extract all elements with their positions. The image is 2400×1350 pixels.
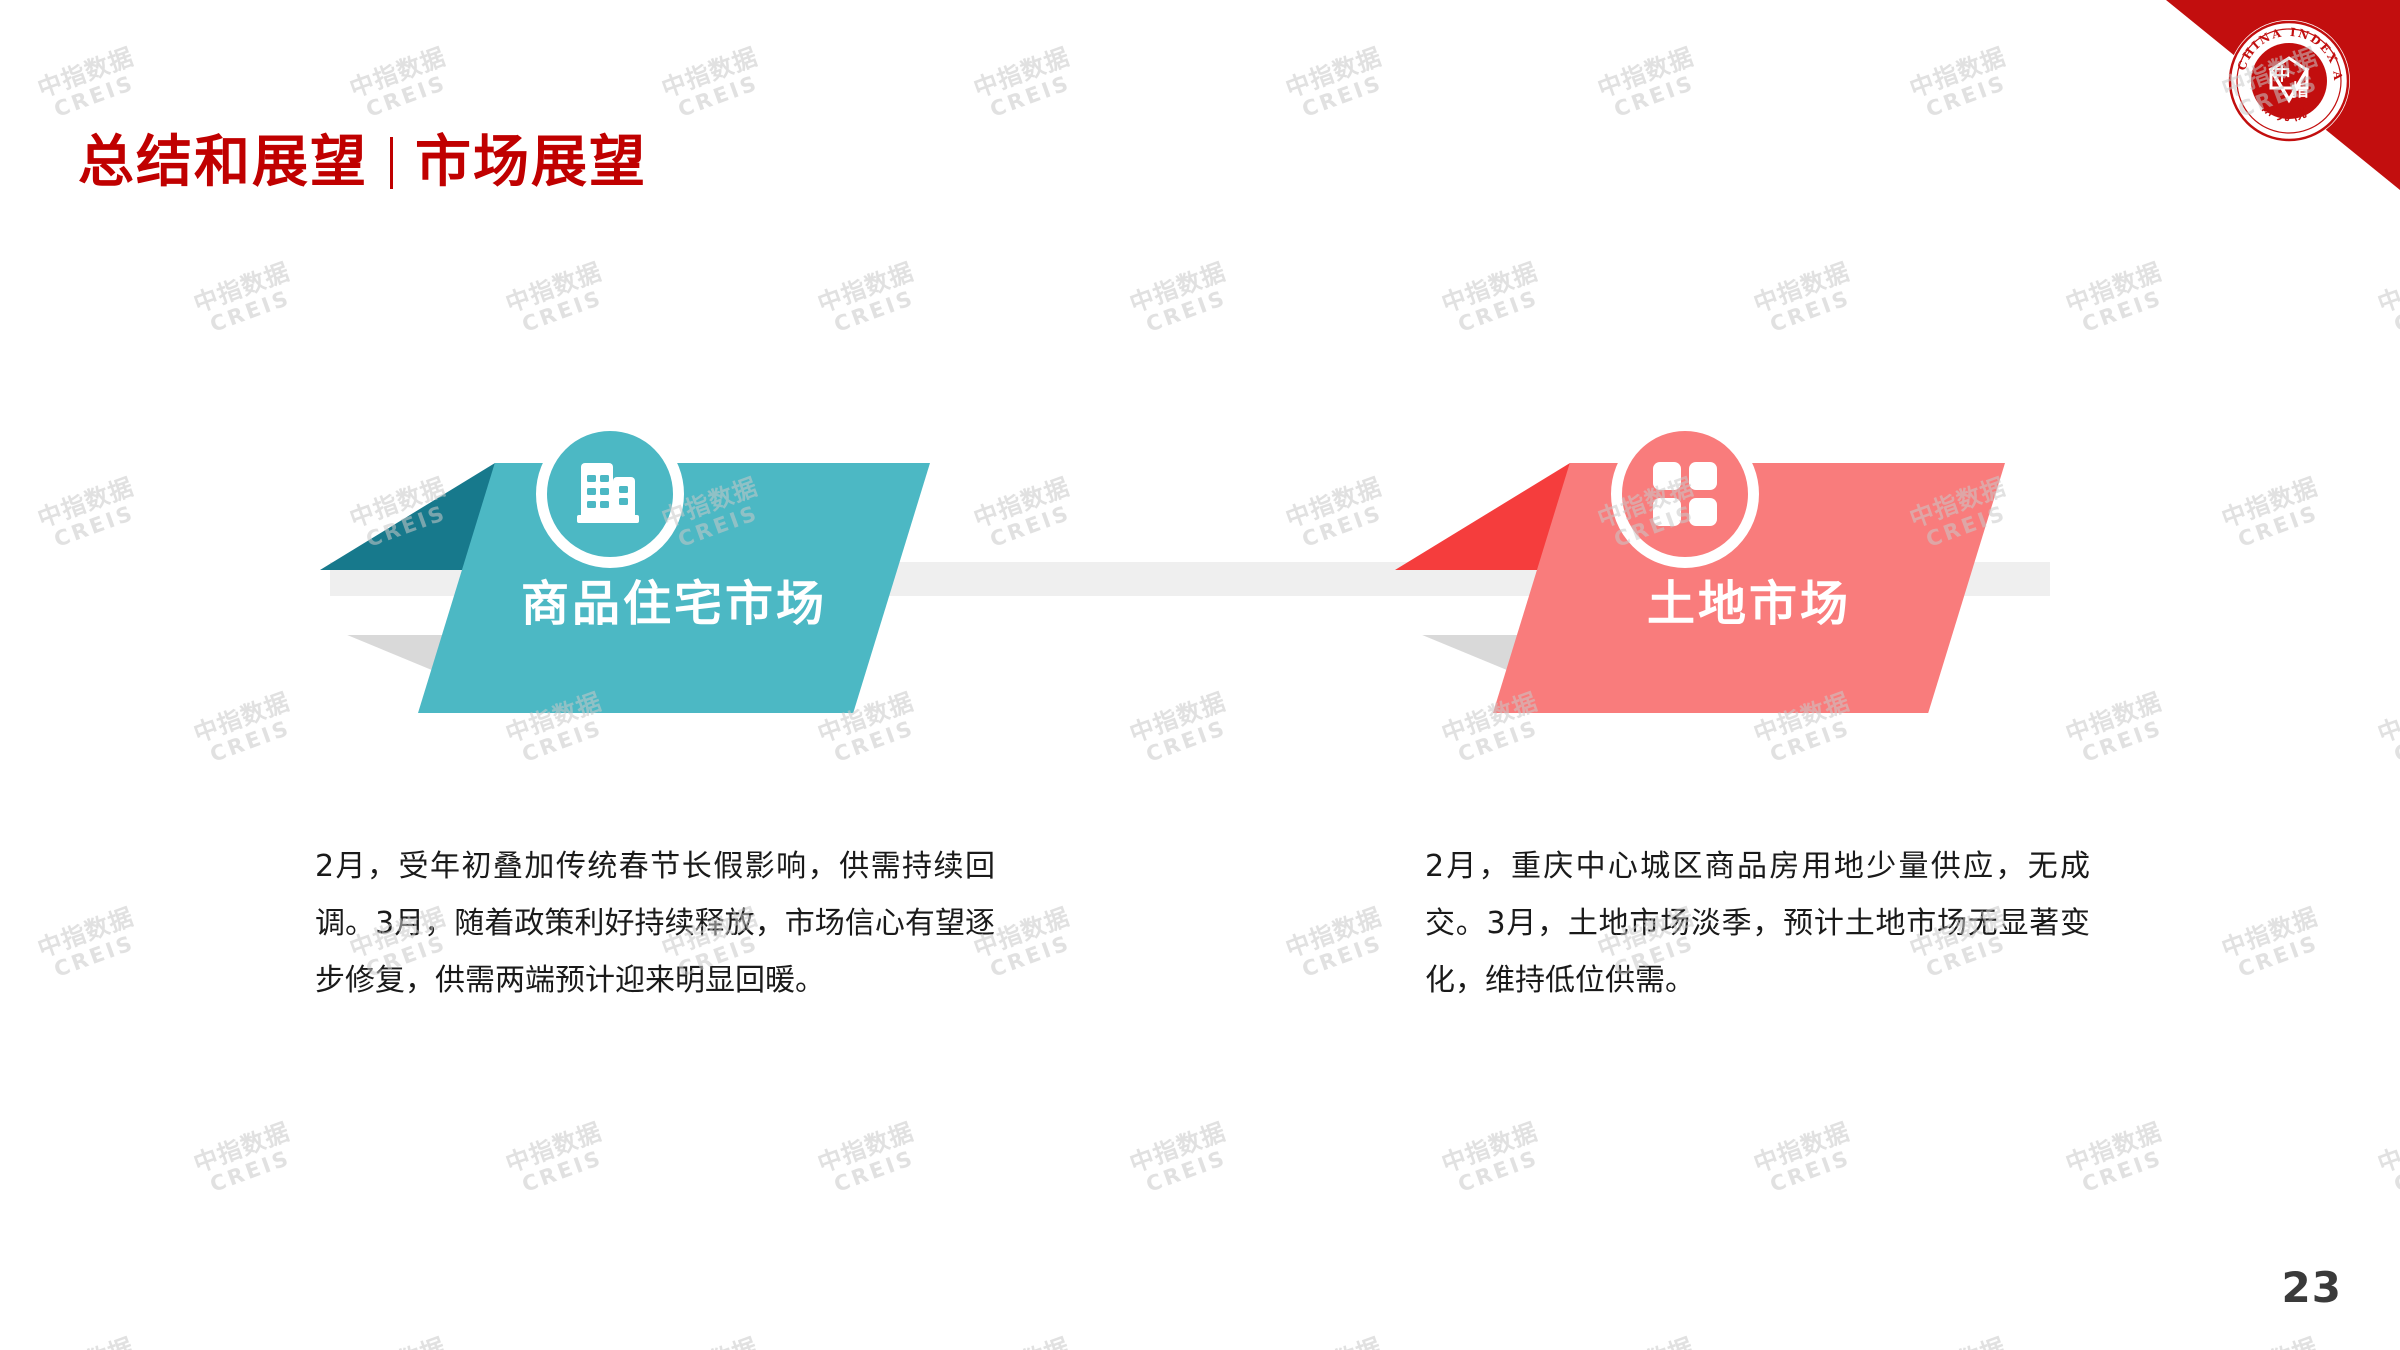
watermark-tile: 中指数据CREIS (1127, 1119, 1238, 1199)
watermark-tile: 中指数据CREIS (1907, 1334, 2018, 1350)
watermark-tile: 中指数据CREIS (191, 689, 302, 769)
watermark-tile: 中指数据CREIS (503, 259, 614, 339)
panel-residential: 商品住宅市场 (320, 420, 1020, 750)
watermark-tile: 中指数据CREIS (1439, 259, 1550, 339)
watermark-tile: 中指数据CREIS (2375, 259, 2400, 339)
watermark-tile: 中指数据CREIS (2219, 904, 2330, 984)
watermark-tile: 中指数据CREIS (2063, 1119, 2174, 1199)
watermark-tile: 中指数据CREIS (191, 259, 302, 339)
watermark-tile: 中指数据CREIS (1907, 44, 2018, 124)
panel-land-text: 2月，重庆中心城区商品房用地少量供应，无成交。3月，土地市场淡季，预计土地市场无… (1425, 838, 2090, 1009)
panel-land-label: 土地市场 (1493, 580, 2005, 628)
panel-residential-label: 商品住宅市场 (418, 580, 930, 628)
watermark-tile: 中指数据CREIS (35, 904, 146, 984)
office-building-icon (536, 420, 684, 568)
title-divider (390, 137, 393, 189)
watermark-tile: 中指数据CREIS (1595, 44, 1706, 124)
watermark-tile: 中指数据CREIS (1127, 689, 1238, 769)
slide-canvas: 中 指 CHINA INDEX ACADEMY 研究院 总结和展望 市场展望 (0, 0, 2400, 1350)
watermark-tile: 中指数据CREIS (1751, 1119, 1862, 1199)
svg-text:中: 中 (2274, 64, 2291, 85)
page-title: 总结和展望 市场展望 (78, 135, 647, 191)
watermark-tile: 中指数据CREIS (2219, 474, 2330, 554)
watermark-tile: 中指数据CREIS (2375, 1119, 2400, 1199)
china-index-academy-logo: 中 指 CHINA INDEX ACADEMY 研究院 (2226, 18, 2352, 144)
watermark-tile: 中指数据CREIS (815, 259, 926, 339)
watermark-tile: 中指数据CREIS (2063, 259, 2174, 339)
watermark-tile: 中指数据CREIS (971, 1334, 1082, 1350)
watermark-tile: 中指数据CREIS (1283, 904, 1394, 984)
watermark-tile: 中指数据CREIS (971, 44, 1082, 124)
panel-land: 土地市场 (1395, 420, 2095, 750)
page-title-main: 总结和展望 (78, 135, 368, 191)
watermark-tile: 中指数据CREIS (2219, 1334, 2330, 1350)
panel-residential-text: 2月，受年初叠加传统春节长假影响，供需持续回调。3月，随着政策利好持续释放，市场… (315, 838, 995, 1009)
svg-text:指: 指 (2292, 80, 2309, 101)
watermark-tile: 中指数据CREIS (347, 44, 458, 124)
window-grid-icon (1611, 420, 1759, 568)
watermark-tile: 中指数据CREIS (1283, 474, 1394, 554)
watermark-tile: 中指数据CREIS (35, 474, 146, 554)
watermark-tile: 中指数据CREIS (35, 1334, 146, 1350)
watermark-tile: 中指数据CREIS (2375, 689, 2400, 769)
watermark-tile: 中指数据CREIS (1439, 1119, 1550, 1199)
watermark-tile: 中指数据CREIS (659, 1334, 770, 1350)
watermark-tile: 中指数据CREIS (659, 44, 770, 124)
watermark-tile: 中指数据CREIS (1751, 259, 1862, 339)
watermark-tile: 中指数据CREIS (35, 44, 146, 124)
watermark-tile: 中指数据CREIS (1283, 44, 1394, 124)
watermark-tile: 中指数据CREIS (1283, 1334, 1394, 1350)
page-title-sub: 市场展望 (415, 135, 647, 191)
page-number: 23 (2282, 1263, 2342, 1312)
watermark-tile: 中指数据CREIS (815, 1119, 926, 1199)
watermark-tile: 中指数据CREIS (347, 1334, 458, 1350)
watermark-tile: 中指数据CREIS (503, 1119, 614, 1199)
watermark-tile: 中指数据CREIS (1595, 1334, 1706, 1350)
watermark-tile: 中指数据CREIS (191, 1119, 302, 1199)
watermark-tile: 中指数据CREIS (1127, 259, 1238, 339)
